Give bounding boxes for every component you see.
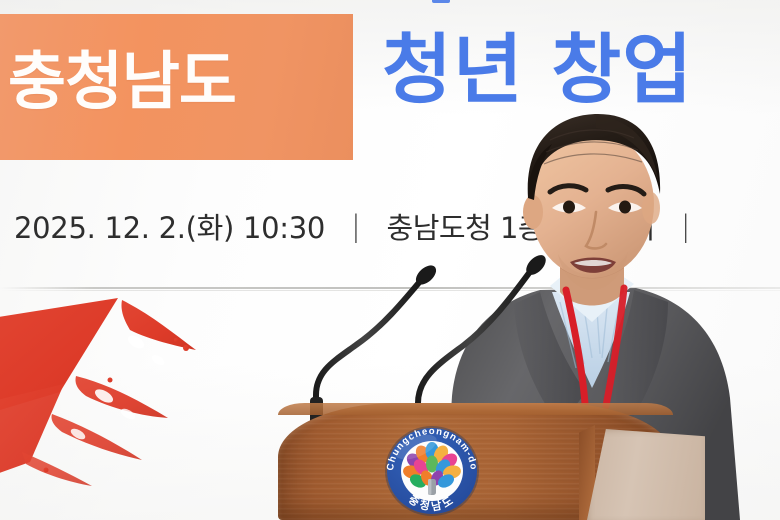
- press-briefing-screenshot: 충청남도 청년 창업 2025. 12. 2.(화) 10:30 | 충남도청 …: [0, 0, 780, 520]
- podium-top-edge: [278, 403, 673, 415]
- podium: [268, 385, 713, 520]
- podium-inner-panel: [587, 429, 705, 520]
- clipped-top-element: [432, 0, 450, 3]
- event-date: 2025. 12. 2.(화) 10:30: [14, 205, 325, 247]
- chungcheongnam-do-emblem: Chungcheongnam-do 충청남도: [380, 421, 485, 520]
- orange-block-text: 충청남도: [8, 50, 338, 113]
- info-separator-1: |: [325, 209, 386, 243]
- orange-title-block: 충청남도: [0, 14, 353, 160]
